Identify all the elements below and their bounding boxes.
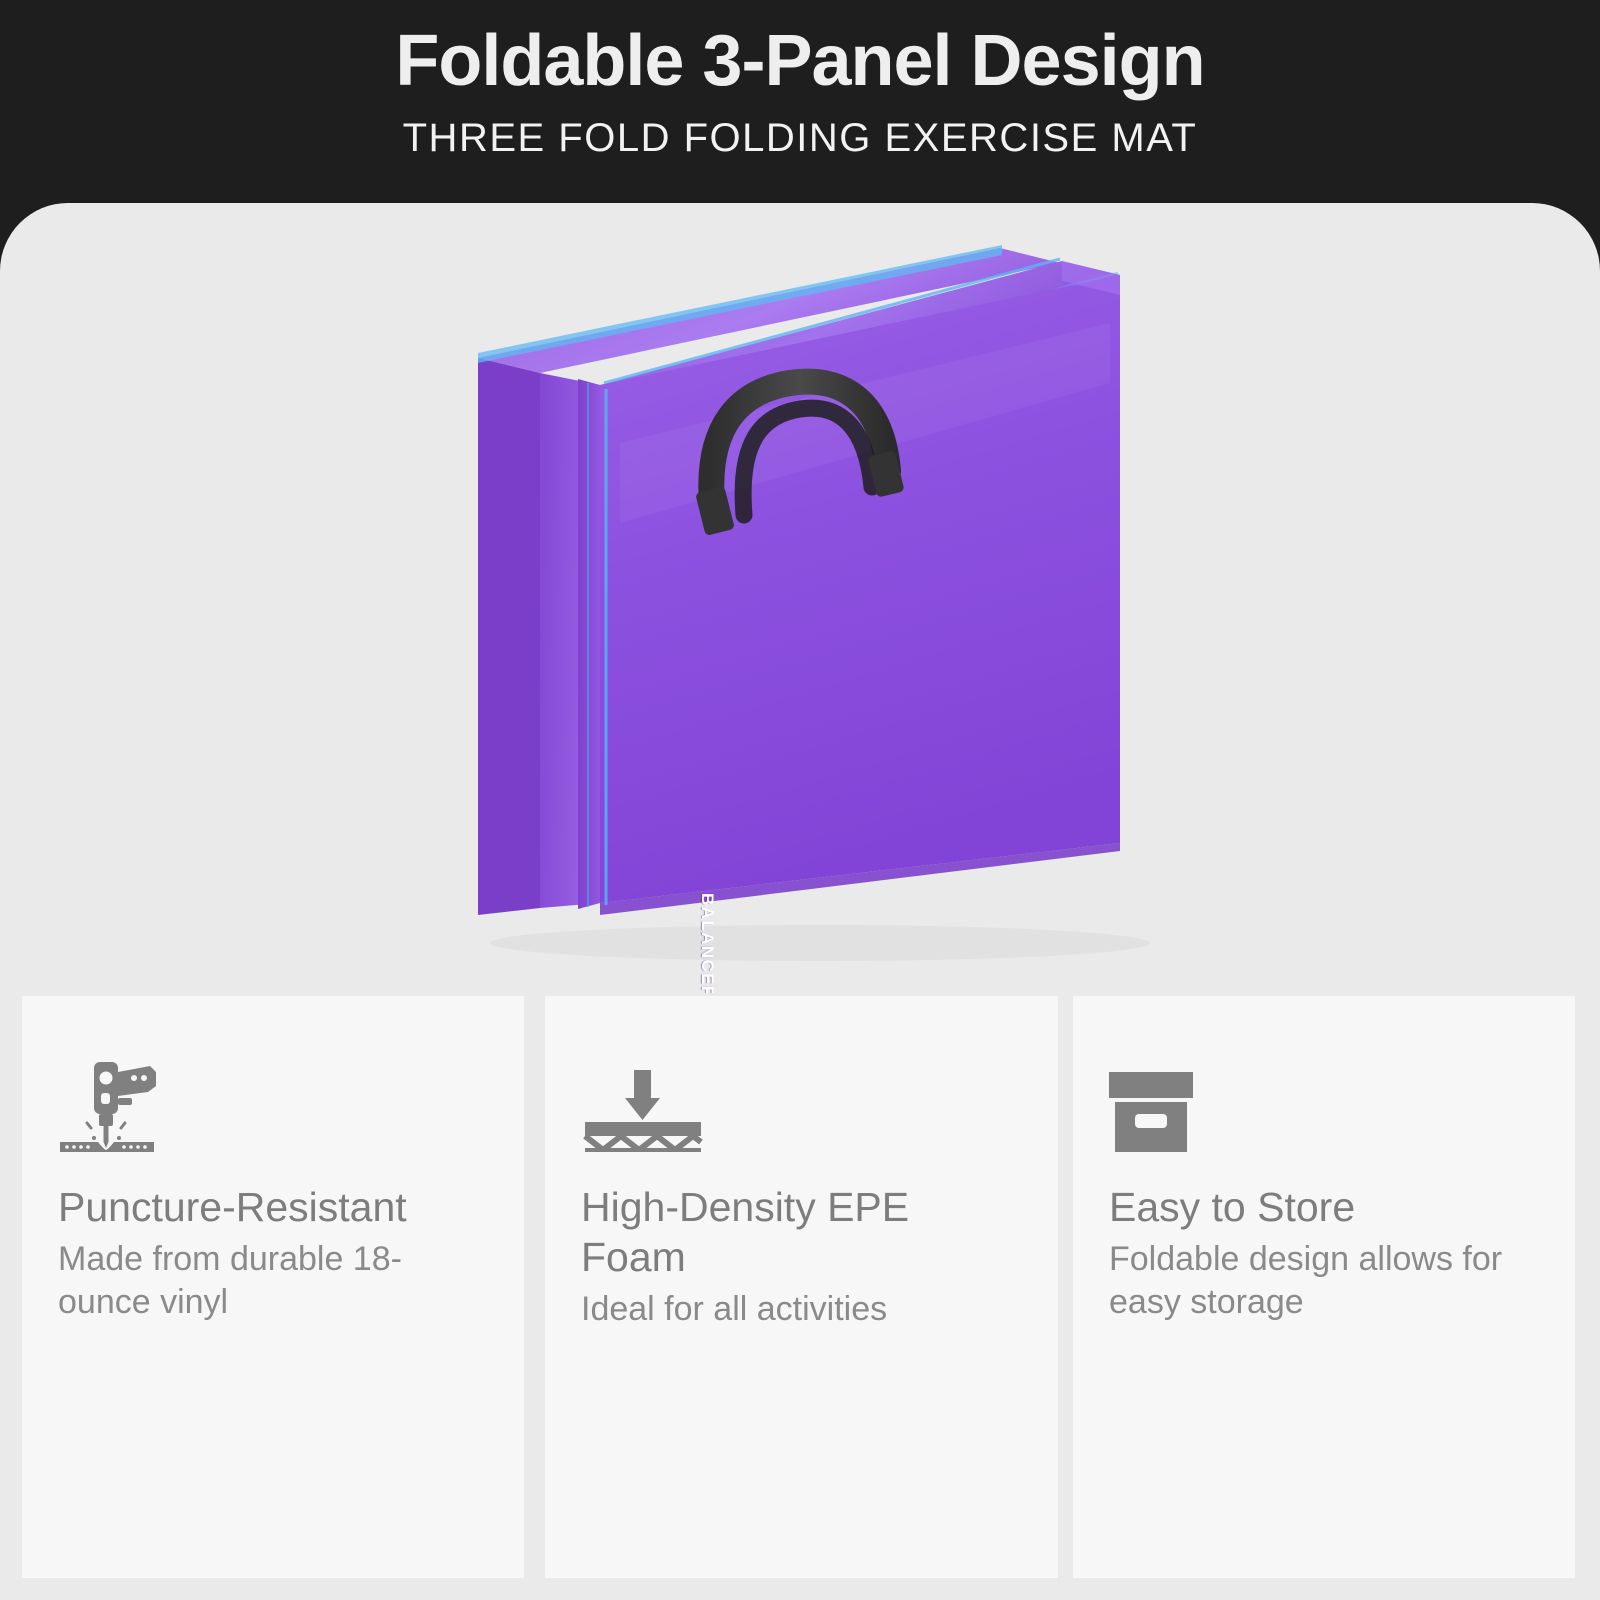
feature-card-title: High-Density EPE Foam [581,1182,1018,1282]
product-image: BALANCEFROM [0,203,1600,993]
product-brand-label: BALANCEFROM [697,893,717,993]
feature-card-description: Foldable design allows for easy storage [1109,1238,1535,1324]
feature-card-description: Ideal for all activities [581,1288,1018,1331]
header-banner: Foldable 3-Panel Design THREE FOLD FOLDI… [0,0,1600,205]
feature-card-description: Made from durable 18-ounce vinyl [58,1238,484,1324]
feature-card-high-density-foam: High-Density EPE Foam Ideal for all acti… [545,996,1058,1578]
page-subtitle: THREE FOLD FOLDING EXERCISE MAT [403,116,1198,160]
feature-card-puncture-resistant: Puncture-Resistant Made from durable 18-… [22,996,524,1578]
page-title: Foldable 3-Panel Design [395,24,1204,100]
hero-panel: BALANCEFROM [0,203,1600,993]
feature-card-easy-to-store: Easy to Store Foldable design allows for… [1073,996,1575,1578]
compression-foam-icon [581,1044,1018,1152]
feature-card-title: Easy to Store [1109,1182,1535,1232]
feature-card-title: Puncture-Resistant [58,1182,484,1232]
drill-puncture-icon [58,1044,484,1152]
infographic-page: Foldable 3-Panel Design THREE FOLD FOLDI… [0,0,1600,1600]
storage-box-icon [1109,1044,1535,1152]
feature-cards-row: Puncture-Resistant Made from durable 18-… [0,993,1600,1600]
